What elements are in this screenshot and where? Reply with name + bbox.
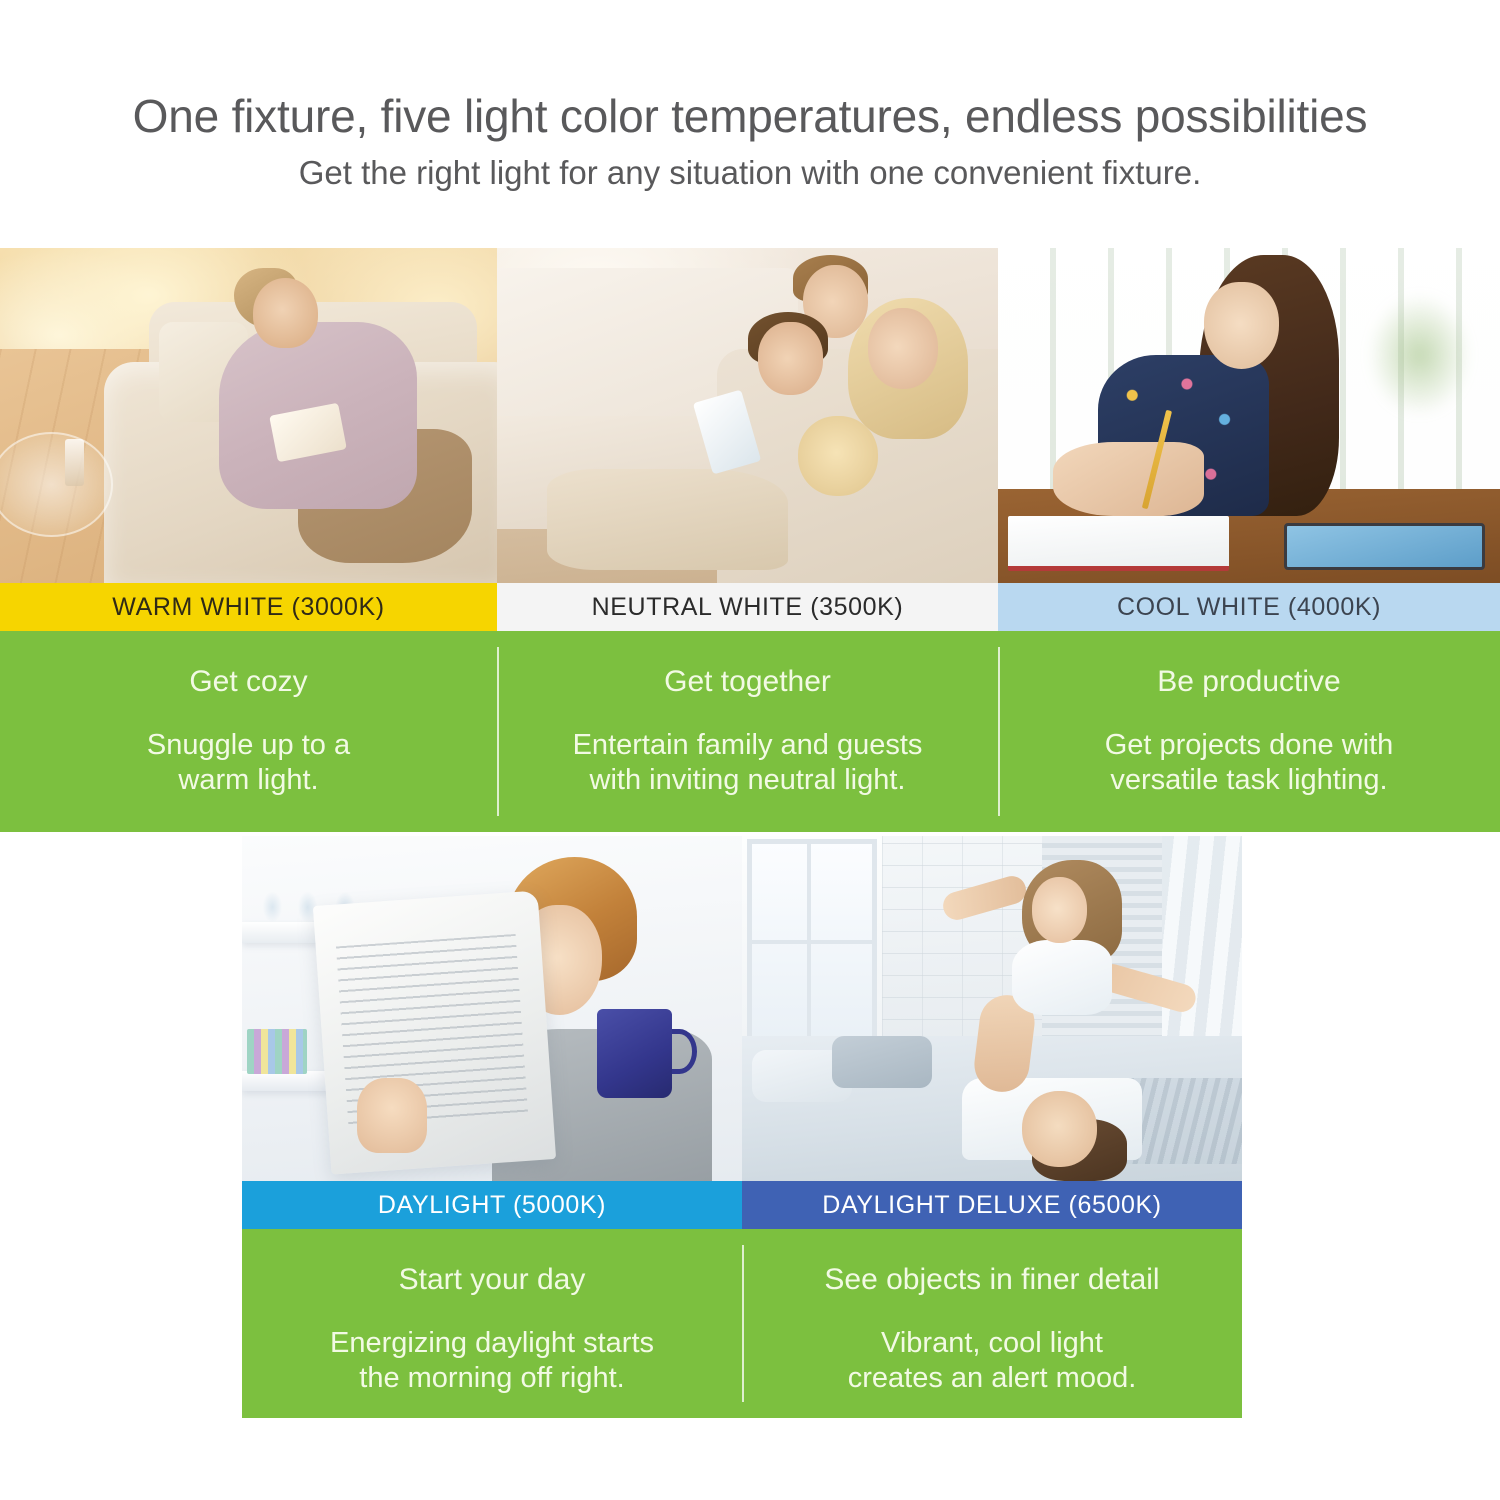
label-warm-white: WARM WHITE (3000K) xyxy=(0,583,497,631)
copy-daylight-deluxe: See objects in finer detail Vibrant, coo… xyxy=(742,1229,1242,1418)
copy-heading: Start your day xyxy=(268,1263,716,1296)
column-divider xyxy=(998,647,1000,816)
scene-child-body xyxy=(1012,940,1112,1016)
copy-body: Vibrant, cool light creates an alert moo… xyxy=(768,1326,1216,1397)
top-label-strip: WARM WHITE (3000K) NEUTRAL WHITE (3500K)… xyxy=(0,583,1500,631)
bottom-photo-strip xyxy=(242,836,1242,1181)
copy-heading: See objects in finer detail xyxy=(768,1263,1216,1296)
copy-body: Get projects done with versatile task li… xyxy=(1024,728,1474,799)
copy-warm-white: Get cozy Snuggle up to a warm light. xyxy=(0,631,497,832)
top-photo-strip xyxy=(0,248,1500,583)
scene-hand xyxy=(357,1078,427,1154)
column-divider xyxy=(497,647,499,816)
label-neutral-white: NEUTRAL WHITE (3500K) xyxy=(497,583,998,631)
scene-child-one-head xyxy=(758,322,823,396)
photo-daylight-deluxe xyxy=(742,836,1242,1181)
photo-daylight xyxy=(242,836,742,1181)
scene-person-head xyxy=(253,278,318,348)
scene-daylight xyxy=(242,836,742,1181)
scene-pillow-gray xyxy=(832,1036,932,1088)
scene-adult-head xyxy=(1022,1091,1097,1167)
scene-child-head xyxy=(1032,877,1087,943)
page-subheadline: Get the right light for any situation wi… xyxy=(0,156,1500,191)
page-headline: One fixture, five light color temperatur… xyxy=(0,92,1500,140)
label-daylight: DAYLIGHT (5000K) xyxy=(242,1181,742,1229)
copy-body: Snuggle up to a warm light. xyxy=(26,728,471,799)
copy-body: Entertain family and guests with invitin… xyxy=(523,728,972,799)
scene-mother-head xyxy=(868,308,938,388)
scene-legs xyxy=(547,469,787,570)
copy-neutral-white: Get together Entertain family and guests… xyxy=(497,631,998,832)
copy-heading: Be productive xyxy=(1024,665,1474,698)
label-daylight-deluxe: DAYLIGHT DELUXE (6500K) xyxy=(742,1181,1242,1229)
copy-heading: Get cozy xyxy=(26,665,471,698)
top-copy-strip: Get cozy Snuggle up to a warm light. Get… xyxy=(0,631,1500,832)
bottom-label-strip: DAYLIGHT (5000K) DAYLIGHT DELUXE (6500K) xyxy=(242,1181,1242,1229)
bottom-copy-strip: Start your day Energizing daylight start… xyxy=(242,1229,1242,1418)
header: One fixture, five light color temperatur… xyxy=(0,0,1500,191)
photo-neutral-white xyxy=(497,248,998,583)
scene-foliage xyxy=(1369,295,1469,416)
label-cool-white: COOL WHITE (4000K) xyxy=(998,583,1500,631)
copy-daylight: Start your day Energizing daylight start… xyxy=(242,1229,742,1418)
scene-cool-white xyxy=(998,248,1500,583)
photo-warm-white xyxy=(0,248,497,583)
scene-window xyxy=(747,839,877,1053)
scene-window-mullion-vertical xyxy=(807,839,811,1053)
scene-notebook xyxy=(1008,516,1229,571)
top-row-section: WARM WHITE (3000K) NEUTRAL WHITE (3500K)… xyxy=(0,248,1500,832)
scene-window-mullion-horizontal xyxy=(747,940,877,944)
bottom-row-section: DAYLIGHT (5000K) DAYLIGHT DELUXE (6500K)… xyxy=(242,836,1242,1418)
scene-child-two-head xyxy=(798,416,878,496)
scene-books xyxy=(247,1029,307,1074)
scene-neutral-white xyxy=(497,248,998,583)
scene-warm-white xyxy=(0,248,497,583)
scene-daylight-deluxe xyxy=(742,836,1242,1181)
scene-girl-face xyxy=(1204,282,1279,369)
copy-body: Energizing daylight starts the morning o… xyxy=(268,1326,716,1397)
photo-cool-white xyxy=(998,248,1500,583)
scene-coffee-mug xyxy=(597,1009,672,1099)
scene-tablet xyxy=(1284,523,1485,570)
column-divider xyxy=(742,1245,744,1402)
scene-glass xyxy=(65,439,85,486)
copy-cool-white: Be productive Get projects done with ver… xyxy=(998,631,1500,832)
scene-girl-arm xyxy=(1053,442,1204,516)
copy-heading: Get together xyxy=(523,665,972,698)
